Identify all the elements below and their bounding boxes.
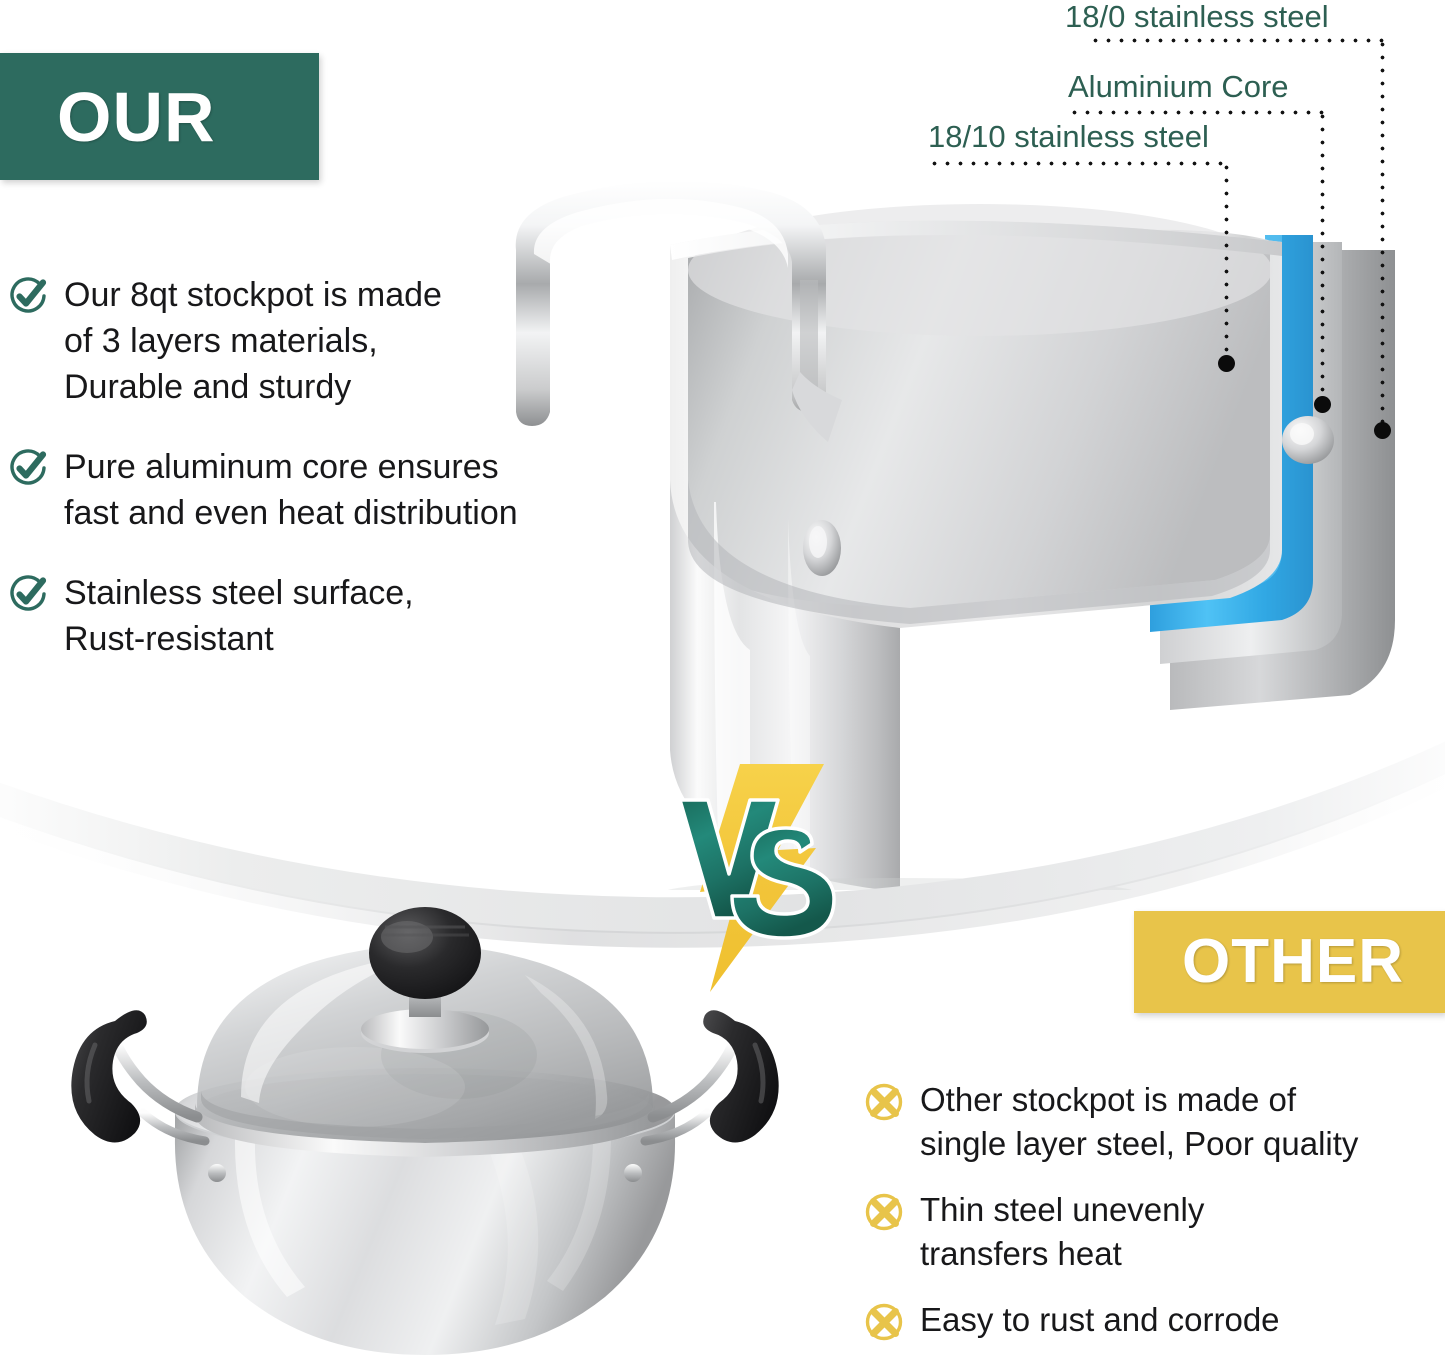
callout-aluminium-core: Aluminium Core <box>1068 70 1289 104</box>
list-item-label: Our 8qt stockpot is made of 3 layers mat… <box>64 272 442 410</box>
callout-leader-horizontal-2 <box>1068 110 1324 115</box>
comparison-infographic: 18/0 stainless steel Aluminium Core 18/1… <box>0 0 1445 1365</box>
check-circle-icon <box>6 572 50 616</box>
callout-leader-vertical-3 <box>1224 161 1229 359</box>
callout-leader-horizontal-1 <box>1089 38 1384 43</box>
our-banner-label: OUR <box>57 82 216 152</box>
x-circle-icon <box>862 1190 906 1234</box>
callout-endpoint-2 <box>1314 396 1331 413</box>
list-item-label: Thin steel unevenly transfers heat <box>920 1188 1204 1276</box>
callout-endpoint-1 <box>1374 422 1391 439</box>
list-item-label: Pure aluminum core ensures fast and even… <box>64 444 518 536</box>
check-circle-icon <box>6 274 50 318</box>
list-item-label: Other stockpot is made of single layer s… <box>920 1078 1358 1166</box>
other-banner: OTHER <box>1134 911 1445 1013</box>
x-circle-icon <box>862 1080 906 1124</box>
list-item: Other stockpot is made of single layer s… <box>862 1078 1437 1166</box>
our-benefits-list: Our 8qt stockpot is made of 3 layers mat… <box>6 272 606 696</box>
list-item-label: Easy to rust and corrode <box>920 1298 1280 1342</box>
callout-18-0-stainless-steel: 18/0 stainless steel <box>1065 0 1329 34</box>
list-item: Our 8qt stockpot is made of 3 layers mat… <box>6 272 606 410</box>
callout-label: 18/0 stainless steel <box>1065 0 1329 34</box>
callout-leader-vertical-2 <box>1320 110 1325 400</box>
list-item: Thin steel unevenly transfers heat <box>862 1188 1437 1276</box>
x-circle-icon <box>862 1300 906 1344</box>
our-stockpot-image <box>470 150 1445 890</box>
callout-leader-vertical-1 <box>1380 38 1385 428</box>
callout-leader-horizontal-3 <box>928 161 1228 166</box>
list-item: Stainless steel surface, Rust-resistant <box>6 570 606 662</box>
check-circle-icon <box>6 446 50 490</box>
callout-label: Aluminium Core <box>1068 70 1289 104</box>
callout-label: 18/10 stainless steel <box>928 120 1209 154</box>
other-stockpot-image <box>55 905 795 1365</box>
other-drawbacks-list: Other stockpot is made of single layer s… <box>862 1078 1437 1365</box>
list-item: Easy to rust and corrode <box>862 1298 1437 1344</box>
callout-18-10-stainless-steel: 18/10 stainless steel <box>928 120 1209 154</box>
other-banner-label: OTHER <box>1182 931 1404 993</box>
our-banner: OUR <box>0 53 319 180</box>
list-item-label: Stainless steel surface, Rust-resistant <box>64 570 414 662</box>
callout-endpoint-3 <box>1218 355 1235 372</box>
list-item: Pure aluminum core ensures fast and even… <box>6 444 606 536</box>
